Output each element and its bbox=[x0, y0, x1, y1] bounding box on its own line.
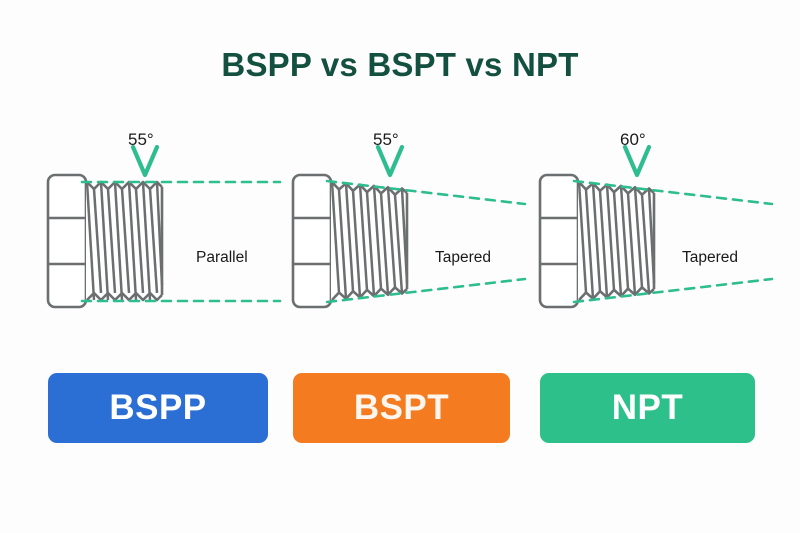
fitting-bspt-drawing bbox=[275, 125, 537, 340]
thread-type-label: Parallel bbox=[196, 249, 248, 267]
angle-label: 55° bbox=[128, 130, 154, 150]
badges-row: BSPP BSPT NPT bbox=[0, 373, 800, 445]
angle-label: 55° bbox=[373, 130, 399, 150]
fitting-bspp: 55° Parallel bbox=[30, 125, 292, 340]
badge-bspt[interactable]: BSPT bbox=[293, 373, 510, 443]
badge-bspp[interactable]: BSPP bbox=[48, 373, 268, 443]
v-chevron-icon bbox=[625, 147, 649, 175]
fitting-npt: 60° Tapered bbox=[522, 125, 784, 340]
hex-nut-body bbox=[540, 175, 578, 307]
hex-nut-body bbox=[48, 175, 86, 307]
page-title: BSPP vs BSPT vs NPT bbox=[0, 46, 800, 84]
v-chevron-icon bbox=[133, 147, 157, 175]
fittings-row: 55° Parallel bbox=[0, 125, 800, 340]
fitting-bspt: 55° Tapered bbox=[275, 125, 537, 340]
angle-label: 60° bbox=[620, 130, 646, 150]
v-chevron-icon bbox=[378, 147, 402, 175]
hex-nut-body bbox=[293, 175, 331, 307]
thread-type-label: Tapered bbox=[435, 249, 491, 267]
thread-type-label: Tapered bbox=[682, 249, 738, 267]
fitting-npt-drawing bbox=[522, 125, 784, 340]
diagram-canvas: BSPP vs BSPT vs NPT bbox=[0, 0, 800, 533]
fitting-bspp-drawing bbox=[30, 125, 292, 340]
badge-npt[interactable]: NPT bbox=[540, 373, 755, 443]
